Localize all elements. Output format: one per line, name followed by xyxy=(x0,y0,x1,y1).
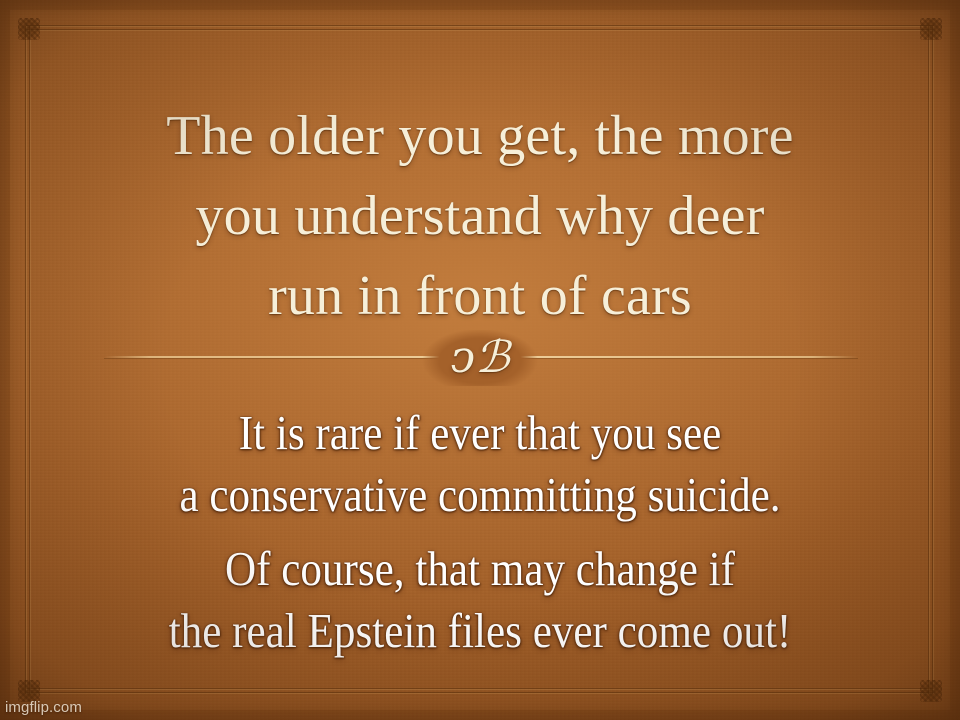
imgflip-watermark: imgflip.com xyxy=(5,699,82,716)
caption-top-block: It is rare if ever that you see a conser… xyxy=(24,402,936,526)
quote-line-3: run in front of cars xyxy=(60,256,900,336)
caption-top-line-2: a conservative committing suicide. xyxy=(79,464,882,526)
corner-rosette-icon-top-left xyxy=(18,18,40,40)
caption-bottom-line-2: the real Epstein files ever come out! xyxy=(79,600,882,662)
quote-line-1: The older you get, the more xyxy=(60,96,900,176)
meme-canvas: The older you get, the more you understa… xyxy=(0,0,960,720)
caption-bottom-line-1: Of course, that may change if xyxy=(79,538,882,600)
frame-border-top xyxy=(26,25,934,32)
divider: ↄℬ xyxy=(0,338,960,386)
corner-rosette-icon-bottom-right xyxy=(920,680,942,702)
frame-border-bottom xyxy=(26,688,934,695)
corner-rosette-icon-top-right xyxy=(920,18,942,40)
quote-block: The older you get, the more you understa… xyxy=(60,96,900,336)
caption-top-line-1: It is rare if ever that you see xyxy=(79,402,882,464)
cb-flourish-ornament-icon: ↄℬ xyxy=(421,330,539,386)
caption-bottom-block: Of course, that may change if the real E… xyxy=(24,538,936,662)
quote-line-2: you understand why deer xyxy=(60,176,900,256)
